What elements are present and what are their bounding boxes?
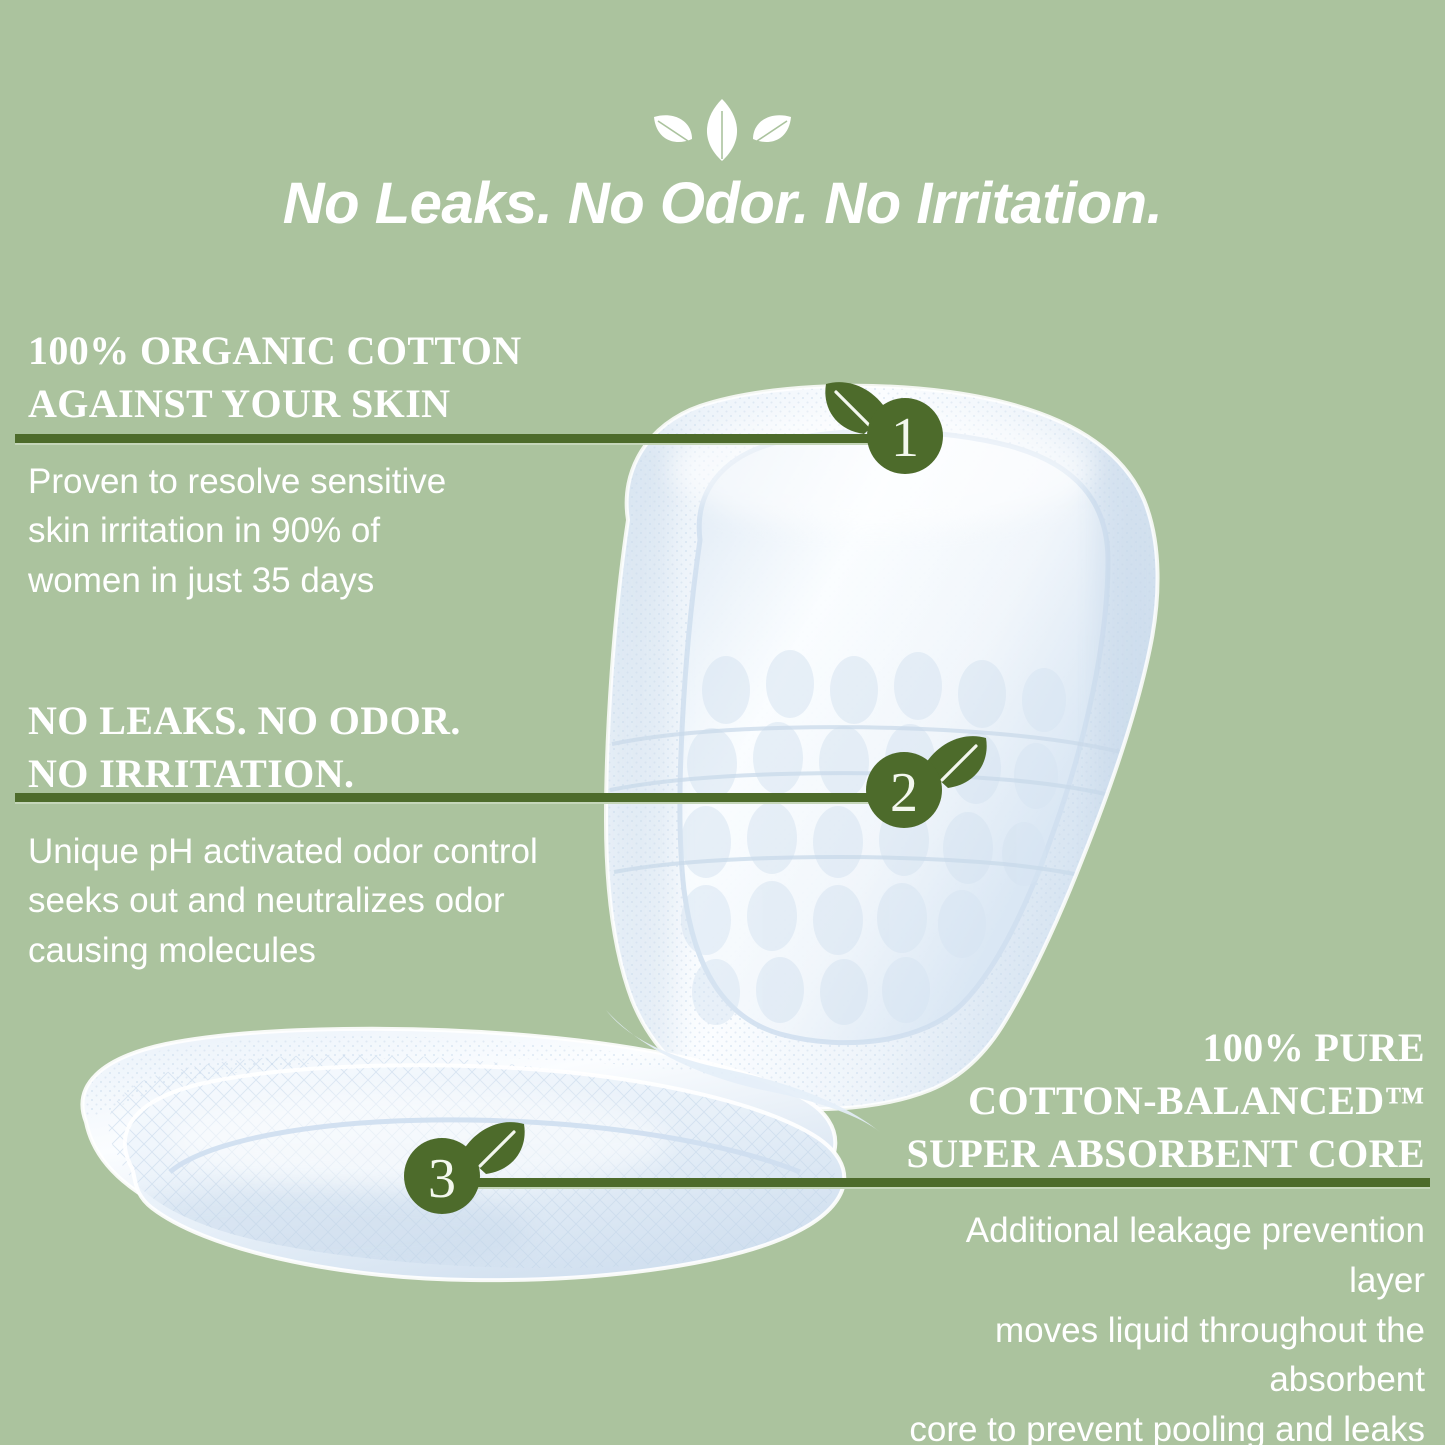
callout-badge-3: 3 (400, 1108, 530, 1223)
feature-block-1: 100% ORGANIC COTTON AGAINST YOUR SKIN Pr… (28, 325, 588, 606)
feature-2-body-line-1: Unique pH activated odor control (28, 827, 648, 877)
feature-2-heading: NO LEAKS. NO ODOR. NO IRRITATION. (28, 695, 648, 801)
feature-3-body-line-1: Additional leakage prevention layer (905, 1206, 1425, 1305)
feature-3-body: Additional leakage prevention layer move… (905, 1206, 1425, 1445)
feature-2-heading-line-1: NO LEAKS. NO ODOR. (28, 695, 648, 748)
feature-2-body-line-2: seeks out and neutralizes odor (28, 876, 648, 926)
feature-2-body-line-3: causing molecules (28, 926, 648, 976)
feature-3-body-line-3: core to prevent pooling and leaks (905, 1405, 1425, 1445)
feature-1-body-line-2: skin irritation in 90% of (28, 506, 588, 556)
headline: No Leaks. No Odor. No Irritation. (0, 170, 1445, 237)
feature-block-3: 100% PURE COTTON-BALANCED™ SUPER ABSORBE… (905, 1022, 1425, 1445)
brand-leaf-logo (640, 95, 805, 165)
feature-3-heading-line-3: SUPER ABSORBENT CORE (905, 1128, 1425, 1181)
feature-3-heading-line-1: 100% PURE (905, 1022, 1425, 1075)
product-infographic: No Leaks. No Odor. No Irritation. 100% O… (0, 0, 1445, 1445)
feature-1-body: Proven to resolve sensitive skin irritat… (28, 457, 588, 606)
callout-badge-1: 1 (820, 368, 950, 483)
feature-2-heading-line-2: NO IRRITATION. (28, 748, 648, 801)
feature-1-heading: 100% ORGANIC COTTON AGAINST YOUR SKIN (28, 325, 588, 431)
feature-1-body-line-3: women in just 35 days (28, 556, 588, 606)
feature-3-body-line-2: moves liquid throughout the absorbent (905, 1306, 1425, 1405)
feature-block-2: NO LEAKS. NO ODOR. NO IRRITATION. Unique… (28, 695, 648, 976)
feature-3-heading-line-2: COTTON-BALANCED™ (905, 1075, 1425, 1128)
feature-2-body: Unique pH activated odor control seeks o… (28, 827, 648, 976)
feature-1-heading-line-2: AGAINST YOUR SKIN (28, 378, 588, 431)
badge-3-number: 3 (428, 1148, 456, 1210)
badge-1-number: 1 (891, 407, 919, 469)
feature-1-body-line-1: Proven to resolve sensitive (28, 457, 588, 507)
callout-badge-2: 2 (862, 722, 992, 837)
badge-2-number: 2 (890, 762, 918, 824)
feature-3-heading: 100% PURE COTTON-BALANCED™ SUPER ABSORBE… (905, 1022, 1425, 1180)
feature-1-heading-line-1: 100% ORGANIC COTTON (28, 325, 588, 378)
